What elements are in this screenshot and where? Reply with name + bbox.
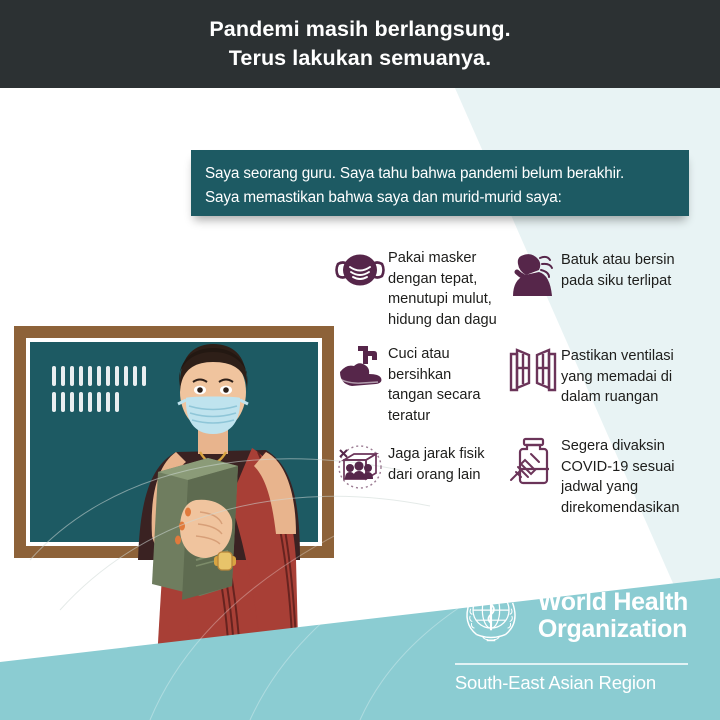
quote-line-1: Saya seorang guru. Saya tahu bahwa pande… — [205, 162, 675, 186]
who-divider — [455, 663, 688, 665]
tip-vaccination-text: Segera divaksin COVID-19 sesuai jadwal y… — [561, 436, 713, 518]
header-title-line2: Terus lakukan semuanya. — [229, 44, 491, 73]
tip-ventilation: Pastikan ventilasi yang memadai di dalam… — [505, 346, 720, 408]
header-title-line1: Pandemi masih berlangsung. — [209, 15, 510, 44]
header-banner: Pandemi masih berlangsung. Terus lakukan… — [0, 0, 720, 88]
physical-distancing-icon — [332, 444, 388, 494]
tip-cough-elbow: Batuk atau bersin pada siku terlipat — [505, 250, 720, 300]
quote-box: Saya seorang guru. Saya tahu bahwa pande… — [191, 150, 689, 216]
cough-into-elbow-icon — [505, 250, 561, 300]
tip-vaccination: Segera divaksin COVID-19 sesuai jadwal y… — [505, 436, 720, 518]
tip-ventilation-text: Pastikan ventilasi yang memadai di dalam… — [561, 346, 713, 408]
who-logo: World Health Organization South-East Asi… — [455, 577, 688, 694]
handwashing-tap-icon — [332, 344, 388, 394]
infographic-poster: Pandemi masih berlangsung. Terus lakukan… — [0, 0, 720, 720]
who-region-label: South-East Asian Region — [455, 672, 656, 694]
who-emblem-icon — [455, 577, 527, 654]
prevention-tips-list: Pakai masker dengan tepat, menutupi mulu… — [332, 248, 720, 538]
quote-line-2: Saya memastikan bahwa saya dan murid-mur… — [205, 186, 675, 210]
tip-hand-hygiene: Cuci atau bersihkan tangan secara teratu… — [332, 344, 522, 426]
tip-cough-elbow-text: Batuk atau bersin pada siku terlipat — [561, 250, 713, 291]
who-name-line2: Organization — [538, 617, 688, 642]
who-name-line1: World Health — [538, 590, 688, 615]
open-window-icon — [505, 346, 561, 396]
tip-face-mask: Pakai masker dengan tepat, menutupi mulu… — [332, 248, 522, 330]
face-mask-icon — [332, 248, 388, 298]
tip-physical-distancing: Jaga jarak fisik dari orang lain — [332, 444, 522, 494]
vaccine-vial-icon — [505, 436, 561, 486]
